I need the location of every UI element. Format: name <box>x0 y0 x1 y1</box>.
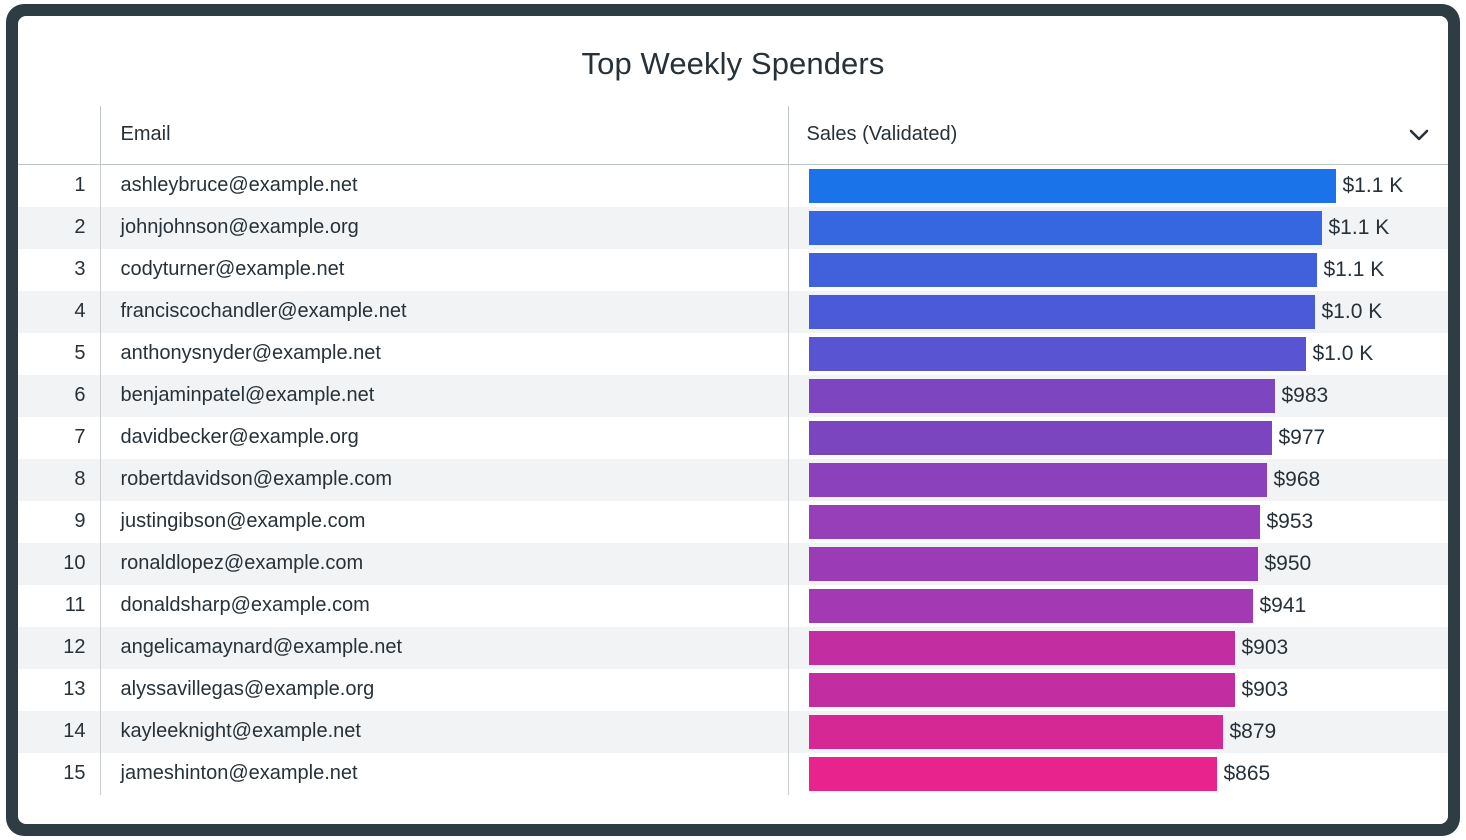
bar-cell: $879 <box>789 711 1449 753</box>
cell-sales: $950 <box>788 543 1448 585</box>
bar-cell: $1.1 K <box>789 165 1449 207</box>
sales-value-label: $1.1 K <box>1336 174 1404 198</box>
sales-value-label: $1.0 K <box>1306 342 1374 366</box>
table-row[interactable]: 8robertdavidson@example.com$968 <box>18 459 1448 501</box>
table-container: Email Sales (Validated) 1ashleybruce@exa… <box>18 106 1448 795</box>
cell-sales: $1.1 K <box>788 164 1448 207</box>
sales-value-label: $1.1 K <box>1317 258 1385 282</box>
row-index: 6 <box>18 375 100 417</box>
bar-cell: $1.0 K <box>789 291 1449 333</box>
cell-email: robertdavidson@example.com <box>100 459 788 501</box>
device-frame: Top Weekly Spenders Email Sales (Validat… <box>6 4 1460 836</box>
column-header-email-label: Email <box>121 123 171 145</box>
table-row[interactable]: 5anthonysnyder@example.net$1.0 K <box>18 333 1448 375</box>
row-index: 11 <box>18 585 100 627</box>
sales-value-label: $950 <box>1258 552 1312 576</box>
sales-bar <box>809 547 1258 581</box>
chart-card: Top Weekly Spenders Email Sales (Validat… <box>18 16 1448 824</box>
row-index: 5 <box>18 333 100 375</box>
header-row: Email Sales (Validated) <box>18 106 1448 164</box>
cell-email: angelicamaynard@example.net <box>100 627 788 669</box>
cell-sales: $941 <box>788 585 1448 627</box>
row-index: 7 <box>18 417 100 459</box>
cell-sales: $953 <box>788 501 1448 543</box>
cell-email: benjaminpatel@example.net <box>100 375 788 417</box>
column-header-sales[interactable]: Sales (Validated) <box>788 106 1448 164</box>
row-index: 14 <box>18 711 100 753</box>
cell-email: kayleeknight@example.net <box>100 711 788 753</box>
sales-bar <box>809 337 1306 371</box>
cell-email: davidbecker@example.org <box>100 417 788 459</box>
cell-sales: $879 <box>788 711 1448 753</box>
sales-bar <box>809 169 1336 203</box>
table-row[interactable]: 11donaldsharp@example.com$941 <box>18 585 1448 627</box>
bar-cell: $983 <box>789 375 1449 417</box>
cell-sales: $1.0 K <box>788 291 1448 333</box>
cell-email: codyturner@example.net <box>100 249 788 291</box>
sales-value-label: $977 <box>1272 426 1326 450</box>
table-row[interactable]: 14kayleeknight@example.net$879 <box>18 711 1448 753</box>
page-title: Top Weekly Spenders <box>18 46 1448 82</box>
cell-sales: $968 <box>788 459 1448 501</box>
bar-cell: $865 <box>789 753 1449 795</box>
table-row[interactable]: 2johnjohnson@example.org$1.1 K <box>18 207 1448 249</box>
cell-email: alyssavillegas@example.org <box>100 669 788 711</box>
sales-bar <box>809 757 1217 791</box>
cell-email: justingibson@example.com <box>100 501 788 543</box>
table-row[interactable]: 4franciscochandler@example.net$1.0 K <box>18 291 1448 333</box>
bar-cell: $1.1 K <box>789 249 1449 291</box>
cell-email: ashleybruce@example.net <box>100 164 788 207</box>
row-index: 4 <box>18 291 100 333</box>
cell-email: jameshinton@example.net <box>100 753 788 795</box>
sales-value-label: $983 <box>1275 384 1329 408</box>
table-row[interactable]: 3codyturner@example.net$1.1 K <box>18 249 1448 291</box>
table-row[interactable]: 12angelicamaynard@example.net$903 <box>18 627 1448 669</box>
table-header: Email Sales (Validated) <box>18 106 1448 164</box>
sales-value-label: $968 <box>1267 468 1321 492</box>
row-index: 9 <box>18 501 100 543</box>
cell-email: johnjohnson@example.org <box>100 207 788 249</box>
sales-bar <box>809 253 1317 287</box>
row-index: 13 <box>18 669 100 711</box>
cell-email: donaldsharp@example.com <box>100 585 788 627</box>
sales-bar <box>809 379 1275 413</box>
table-row[interactable]: 15jameshinton@example.net$865 <box>18 753 1448 795</box>
row-index: 2 <box>18 207 100 249</box>
table-row[interactable]: 6benjaminpatel@example.net$983 <box>18 375 1448 417</box>
row-index: 3 <box>18 249 100 291</box>
bar-cell: $977 <box>789 417 1449 459</box>
row-index: 10 <box>18 543 100 585</box>
sales-value-label: $879 <box>1223 720 1277 744</box>
sales-bar <box>809 631 1235 665</box>
table-row[interactable]: 1ashleybruce@example.net$1.1 K <box>18 164 1448 207</box>
row-index: 8 <box>18 459 100 501</box>
bar-cell: $903 <box>789 669 1449 711</box>
column-header-index <box>18 106 100 164</box>
sales-value-label: $953 <box>1260 510 1314 534</box>
sales-bar <box>809 421 1272 455</box>
bar-cell: $968 <box>789 459 1449 501</box>
table-row[interactable]: 9justingibson@example.com$953 <box>18 501 1448 543</box>
cell-sales: $865 <box>788 753 1448 795</box>
bar-cell: $1.1 K <box>789 207 1449 249</box>
sales-value-label: $903 <box>1235 678 1289 702</box>
cell-sales: $903 <box>788 669 1448 711</box>
row-index: 15 <box>18 753 100 795</box>
sales-value-label: $865 <box>1217 762 1271 786</box>
sales-bar <box>809 463 1267 497</box>
sales-bar <box>809 505 1260 539</box>
table-row[interactable]: 10ronaldlopez@example.com$950 <box>18 543 1448 585</box>
bar-cell: $1.0 K <box>789 333 1449 375</box>
cell-sales: $1.1 K <box>788 249 1448 291</box>
sales-bar <box>809 673 1235 707</box>
sales-value-label: $941 <box>1253 594 1307 618</box>
bar-cell: $941 <box>789 585 1449 627</box>
column-header-sales-label: Sales (Validated) <box>807 123 958 145</box>
cell-sales: $1.1 K <box>788 207 1448 249</box>
bar-cell: $950 <box>789 543 1449 585</box>
table-row[interactable]: 7davidbecker@example.org$977 <box>18 417 1448 459</box>
sales-value-label: $1.1 K <box>1322 216 1390 240</box>
cell-sales: $977 <box>788 417 1448 459</box>
sales-value-label: $903 <box>1235 636 1289 660</box>
table-body: 1ashleybruce@example.net$1.1 K2johnjohns… <box>18 164 1448 795</box>
chevron-down-icon[interactable] <box>1408 124 1430 146</box>
cell-sales: $983 <box>788 375 1448 417</box>
row-index: 1 <box>18 164 100 207</box>
cell-email: ronaldlopez@example.com <box>100 543 788 585</box>
column-header-email[interactable]: Email <box>100 106 788 164</box>
cell-email: anthonysnyder@example.net <box>100 333 788 375</box>
row-index: 12 <box>18 627 100 669</box>
cell-sales: $1.0 K <box>788 333 1448 375</box>
spenders-table: Email Sales (Validated) 1ashleybruce@exa… <box>18 106 1448 795</box>
sales-bar <box>809 715 1223 749</box>
cell-email: franciscochandler@example.net <box>100 291 788 333</box>
table-row[interactable]: 13alyssavillegas@example.org$903 <box>18 669 1448 711</box>
cell-sales: $903 <box>788 627 1448 669</box>
sales-value-label: $1.0 K <box>1315 300 1383 324</box>
bar-cell: $953 <box>789 501 1449 543</box>
sales-bar <box>809 211 1322 245</box>
bar-cell: $903 <box>789 627 1449 669</box>
sales-bar <box>809 589 1253 623</box>
sales-bar <box>809 295 1315 329</box>
